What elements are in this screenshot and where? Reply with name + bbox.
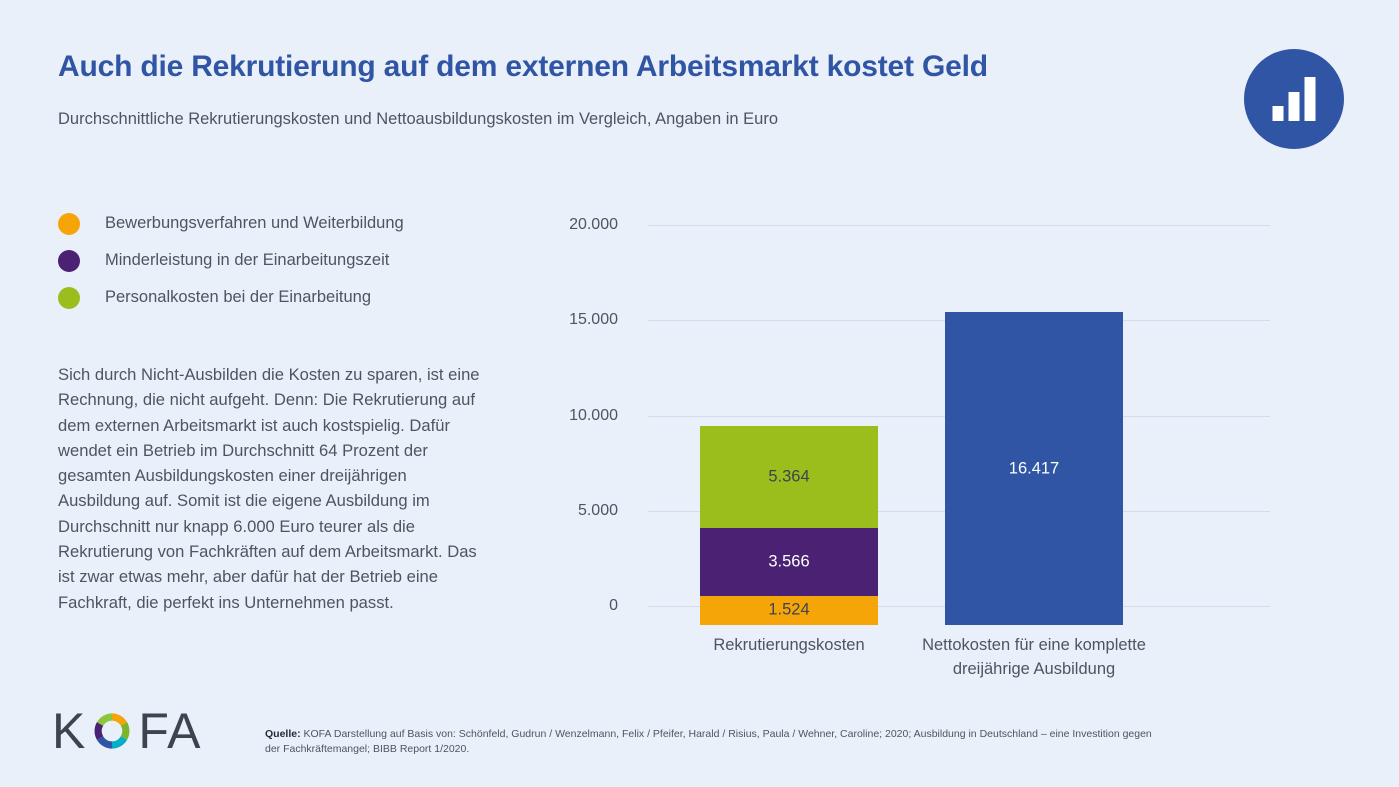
bar-value-label: 16.417 xyxy=(945,459,1123,478)
y-axis-tick-label: 0 xyxy=(609,597,618,615)
badge-bar-2 xyxy=(1289,92,1300,121)
badge-bar-3 xyxy=(1305,77,1316,121)
chart-legend: Bewerbungsverfahren und WeiterbildungMin… xyxy=(58,205,498,316)
legend-color-dot xyxy=(58,250,80,272)
legend-color-dot xyxy=(58,213,80,235)
infographic-page: Auch die Rekrutierung auf dem externen A… xyxy=(0,0,1399,787)
badge-bar-1 xyxy=(1273,106,1284,121)
x-axis-category-label: Rekrutierungskosten xyxy=(670,633,908,657)
source-text-line1: KOFA Darstellung auf Basis von: Schönfel… xyxy=(301,728,1152,740)
y-axis-tick-label: 15.000 xyxy=(569,311,618,329)
source-text-line2: der Fachkräftemangel; BIBB Report 1/2020… xyxy=(265,743,469,755)
logo-letter-k: K xyxy=(52,702,86,760)
badge-bars xyxy=(1273,77,1316,121)
plot-area: 5.3643.5661.52416.417 xyxy=(648,225,1270,625)
y-axis-tick-label: 5.000 xyxy=(578,502,618,520)
source-label: Quelle: xyxy=(265,728,301,740)
bar-segment[interactable]: 1.524 xyxy=(700,596,878,625)
bar-column[interactable]: 16.417 xyxy=(945,312,1123,625)
logo-swirl-icon xyxy=(86,705,138,757)
gridline xyxy=(648,225,1270,226)
chart: 05.00010.00015.00020.000 5.3643.5661.524… xyxy=(540,225,1270,625)
kofa-logo: K FA xyxy=(52,703,202,759)
legend-item-label: Bewerbungsverfahren und Weiterbildung xyxy=(105,214,404,233)
x-axis-category-label: Nettokosten für eine komplette dreijähri… xyxy=(915,633,1153,681)
bar-segment[interactable]: 5.364 xyxy=(700,426,878,528)
bar-value-label: 3.566 xyxy=(700,553,878,572)
logo-letters-fa: FA xyxy=(138,702,201,760)
legend-item-label: Minderleistung in der Einarbeitungszeit xyxy=(105,251,389,270)
legend-color-dot xyxy=(58,287,80,309)
legend-item[interactable]: Minderleistung in der Einarbeitungszeit xyxy=(58,242,498,279)
page-subtitle: Durchschnittliche Rekrutierungskosten un… xyxy=(58,110,778,129)
legend-item-label: Personalkosten bei der Einarbeitung xyxy=(105,288,371,307)
bar-chart-icon xyxy=(1244,49,1344,149)
bar-value-label: 1.524 xyxy=(700,601,878,620)
y-axis-tick-label: 20.000 xyxy=(569,216,618,234)
bar-column[interactable]: 5.3643.5661.524 xyxy=(700,426,878,625)
x-axis-labels: RekrutierungskostenNettokosten für eine … xyxy=(648,633,1270,693)
page-title: Auch die Rekrutierung auf dem externen A… xyxy=(58,50,988,84)
legend-item[interactable]: Personalkosten bei der Einarbeitung xyxy=(58,279,498,316)
source-note: Quelle: KOFA Darstellung auf Basis von: … xyxy=(265,727,1230,757)
legend-item[interactable]: Bewerbungsverfahren und Weiterbildung xyxy=(58,205,498,242)
bar-segment[interactable]: 3.566 xyxy=(700,528,878,596)
bar-segment[interactable]: 16.417 xyxy=(945,312,1123,625)
bar-value-label: 5.364 xyxy=(700,467,878,486)
body-text: Sich durch Nicht-Ausbilden die Kosten zu… xyxy=(58,362,480,615)
y-axis-tick-label: 10.000 xyxy=(569,407,618,425)
y-axis-labels: 05.00010.00015.00020.000 xyxy=(540,225,618,625)
